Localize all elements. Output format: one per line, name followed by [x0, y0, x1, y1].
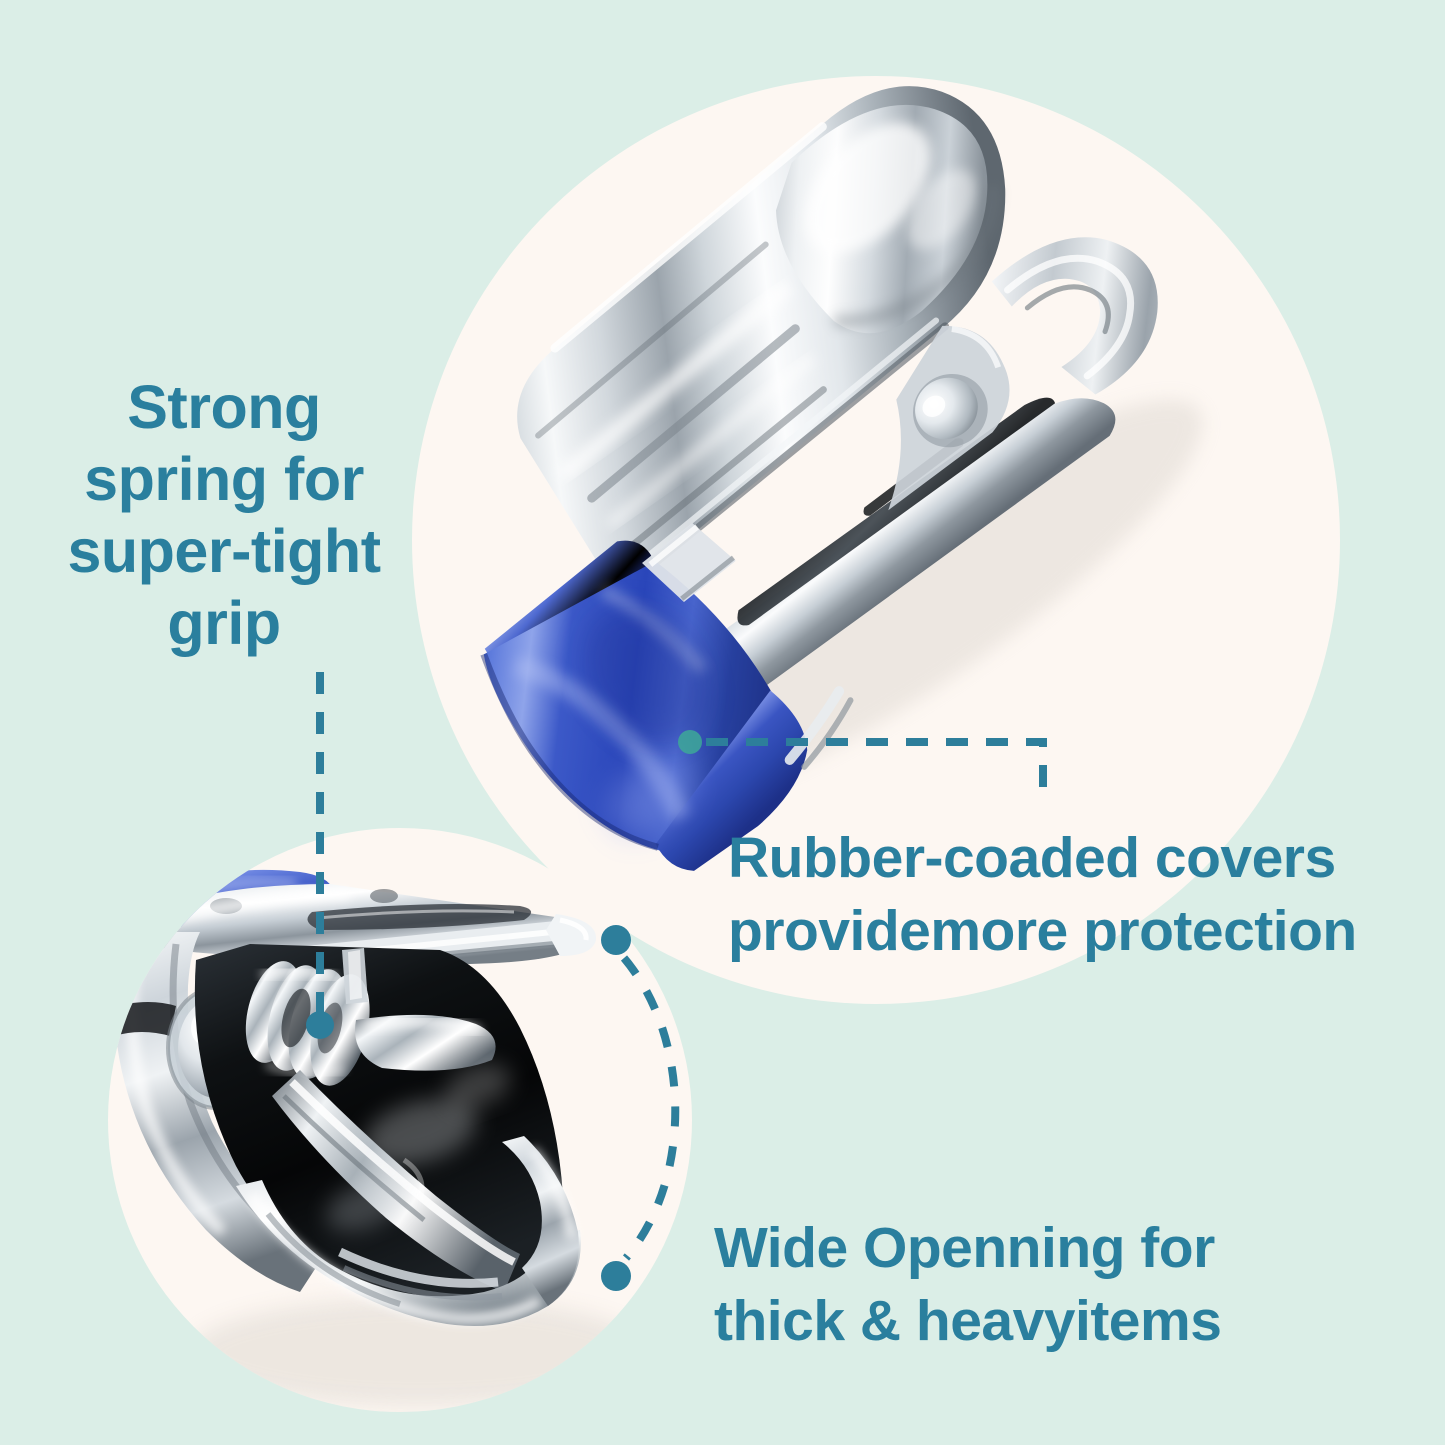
infographic-canvas: Strong spring for super-tight grip Rubbe… — [0, 0, 1445, 1445]
caption-line: super-tight — [52, 516, 396, 588]
caption-line: spring for — [52, 444, 396, 516]
caption-line: providemore protection — [728, 895, 1428, 968]
caption-line: Wide Openning for — [714, 1212, 1354, 1285]
caption-rubber-coated: Rubber-coaded covers providemore protect… — [728, 822, 1428, 968]
caption-line: thick & heavyitems — [714, 1285, 1354, 1358]
bottom-product-circle-backdrop — [108, 828, 692, 1412]
caption-line: Strong — [52, 372, 396, 444]
caption-wide-opening: Wide Openning for thick & heavyitems — [714, 1212, 1354, 1358]
caption-strong-spring: Strong spring for super-tight grip — [52, 372, 396, 660]
caption-line: Rubber-coaded covers — [728, 822, 1428, 895]
caption-line: grip — [52, 588, 396, 660]
